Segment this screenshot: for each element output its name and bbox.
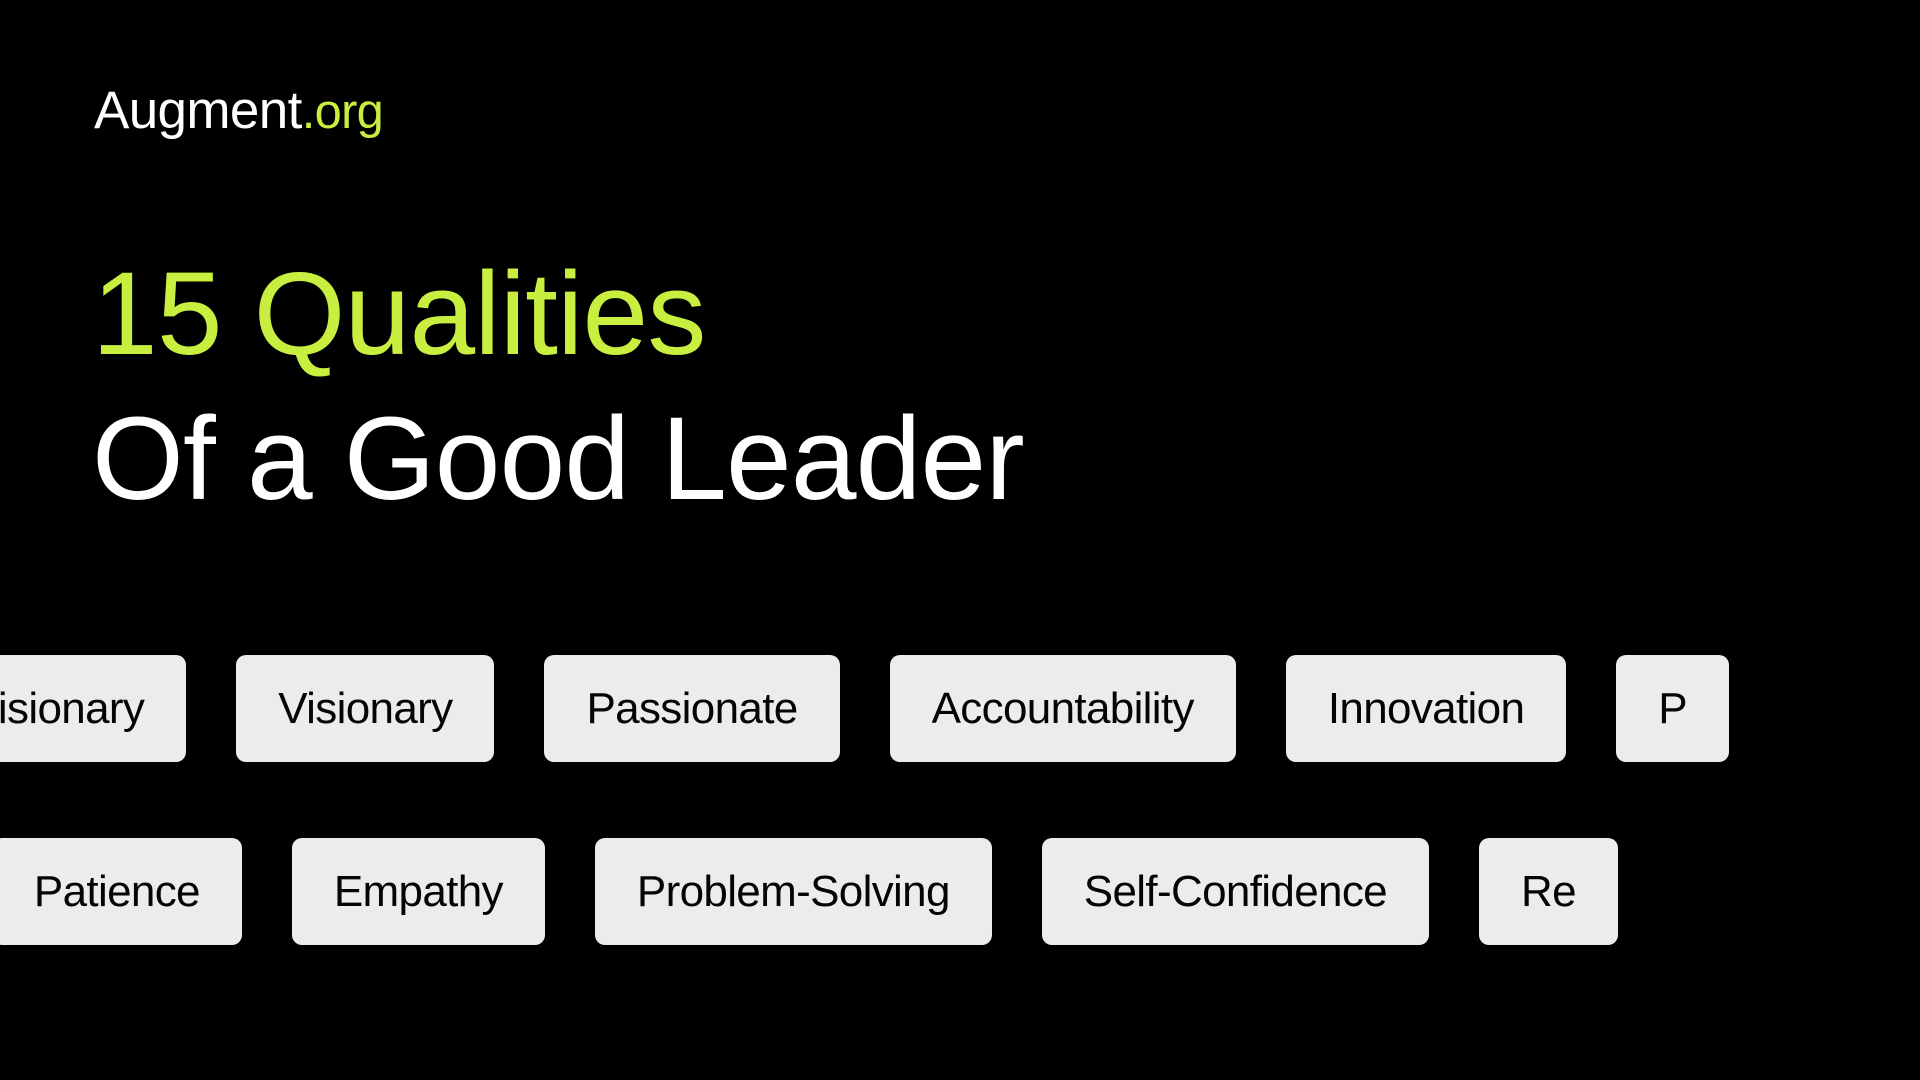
quality-tag[interactable]: Re: [1479, 838, 1618, 945]
quality-tag-row-2: ty Patience Empathy Problem-Solving Self…: [0, 838, 1920, 945]
brand-logo-wordmark: Augment: [94, 81, 302, 140]
page-title: 15 Qualities Of a Good Leader: [92, 242, 1492, 532]
quality-tag-row-1: Visionary Visionary Passionate Accountab…: [0, 655, 1920, 762]
page-title-line-1: 15 Qualities: [92, 242, 1492, 387]
quality-tag[interactable]: Visionary: [236, 655, 494, 762]
brand-logo[interactable]: Augment.org: [94, 84, 383, 137]
quality-tag[interactable]: P: [1616, 655, 1729, 762]
slide-canvas: Augment.org 15 Qualities Of a Good Leade…: [0, 0, 1920, 1080]
page-title-line-2: Of a Good Leader: [92, 387, 1492, 532]
quality-tag[interactable]: Accountability: [890, 655, 1236, 762]
quality-tag[interactable]: Visionary: [0, 655, 186, 762]
quality-tag[interactable]: Passionate: [544, 655, 839, 762]
quality-tag[interactable]: Self-Confidence: [1042, 838, 1429, 945]
quality-tag-marquee: Visionary Visionary Passionate Accountab…: [0, 655, 1920, 945]
quality-tag-track-1[interactable]: Visionary Visionary Passionate Accountab…: [0, 655, 1729, 762]
brand-logo-tld: .org: [302, 85, 383, 139]
quality-tag[interactable]: Innovation: [1286, 655, 1566, 762]
quality-tag[interactable]: Empathy: [292, 838, 545, 945]
quality-tag[interactable]: Problem-Solving: [595, 838, 992, 945]
quality-tag[interactable]: Patience: [0, 838, 242, 945]
quality-tag-track-2[interactable]: ty Patience Empathy Problem-Solving Self…: [0, 838, 1618, 945]
